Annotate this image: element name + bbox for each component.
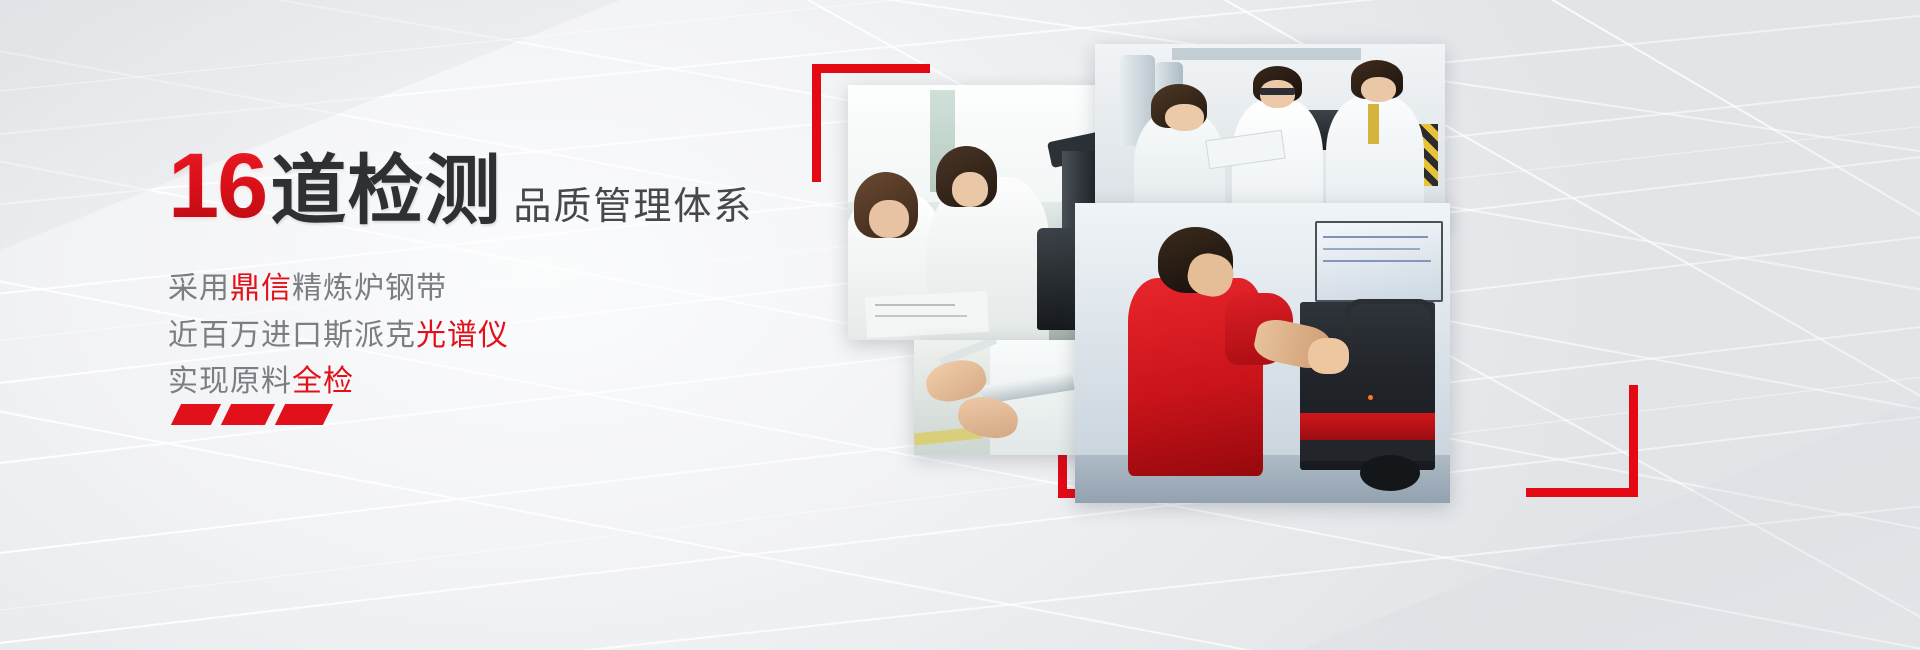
body-line-1-highlight: 鼎信 [230, 272, 292, 305]
slash-icon-3 [275, 404, 333, 425]
red-slash-decoration [176, 404, 328, 425]
spectrometer-operator-photo [1075, 203, 1450, 503]
body-text-list: 采用鼎信精炼炉钢带 近百万进口斯派克光谱仪 实现原料全检 [168, 266, 788, 406]
team-inspection-photo [1095, 44, 1445, 226]
headline-number: 16 [168, 140, 270, 232]
slash-icon-1 [171, 404, 221, 425]
headline: 16 道检测 品质管理体系 [168, 140, 788, 232]
body-line-1: 采用鼎信精炼炉钢带 [168, 266, 788, 313]
body-line-2-pre: 近百万进口斯派克 [168, 319, 416, 352]
body-line-3: 实现原料全检 [168, 359, 788, 406]
body-line-2: 近百万进口斯派克光谱仪 [168, 313, 788, 360]
slash-icon-2 [221, 404, 275, 425]
headline-main: 道检测 [270, 154, 501, 230]
headline-subtitle: 品质管理体系 [501, 188, 753, 226]
body-line-3-pre: 实现原料 [168, 365, 292, 398]
body-line-2-highlight: 光谱仪 [416, 319, 509, 352]
banner-stage: 16 道检测 品质管理体系 采用鼎信精炼炉钢带 近百万进口斯派克光谱仪 实现原料… [0, 0, 1920, 650]
bottom-right-bracket [1526, 385, 1638, 497]
photo-collage [810, 40, 1900, 600]
body-line-1-pre: 采用 [168, 272, 230, 305]
body-line-3-highlight: 全检 [292, 365, 354, 398]
body-line-1-post: 精炼炉钢带 [292, 272, 447, 305]
headline-block: 16 道检测 品质管理体系 采用鼎信精炼炉钢带 近百万进口斯派克光谱仪 实现原料… [168, 140, 788, 406]
